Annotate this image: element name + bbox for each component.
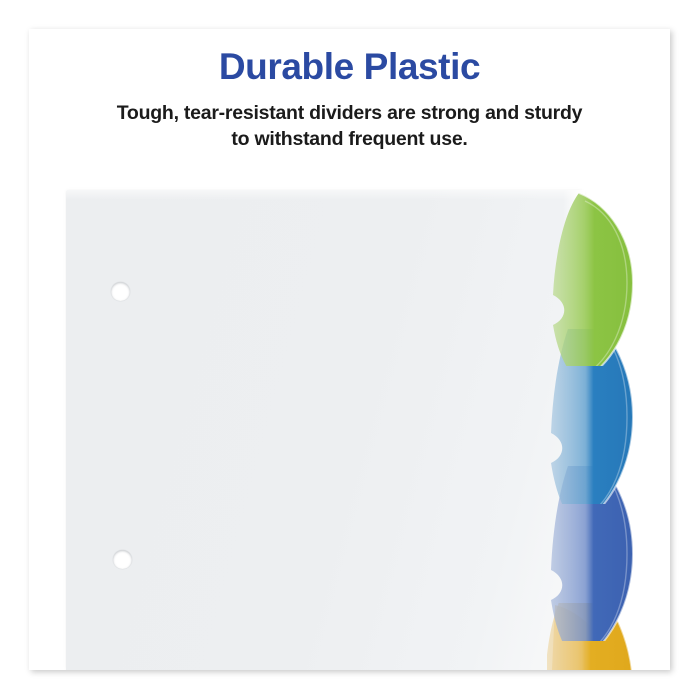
divider-tab-green [547, 191, 651, 366]
product-image-card: Durable Plastic Tough, tear-resistant di… [29, 29, 670, 670]
subtitle-line-2: to withstand frequent use. [231, 128, 467, 150]
green-tab-icon [547, 191, 651, 366]
product-subtitle: Tough, tear-resistant dividers are stron… [29, 88, 670, 153]
subtitle-line-1: Tough, tear-resistant dividers are stron… [117, 102, 583, 124]
headline-block: Durable Plastic Tough, tear-resistant di… [29, 29, 670, 152]
divider-sheet [66, 190, 585, 670]
page-title: Durable Plastic [29, 29, 670, 88]
punch-hole-icon [111, 282, 130, 301]
punch-hole-icon [113, 550, 132, 569]
sheet-top-shading [66, 190, 585, 200]
